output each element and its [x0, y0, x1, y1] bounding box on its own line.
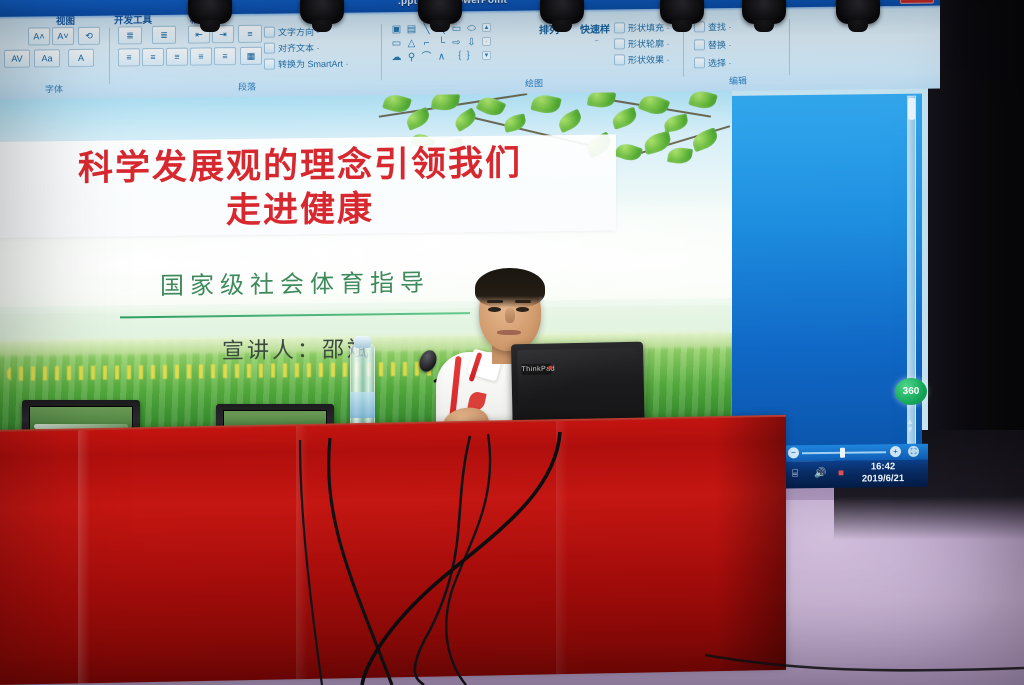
stage-light-3	[540, 0, 584, 24]
shape-1-1-icon[interactable]: △	[405, 38, 418, 49]
slide-title-line1: 科学发展观的理念引领我们	[0, 140, 608, 192]
slide-subtitle: 国家级社会体育指导	[100, 262, 490, 302]
ribbon-group-label-editing: 编辑	[686, 73, 790, 87]
powerpoint-window-chrome: .ppt - Mi... PowerPoint ✕ 视图开发工具格式 A˄A˅⟲…	[0, 0, 940, 100]
ribbon-group-font: A˄A˅⟲AVAaA字体	[0, 25, 110, 98]
align-text-menu[interactable]: 对齐文本 ·	[278, 41, 320, 55]
justify-button[interactable]: ≡	[190, 47, 212, 65]
shape-2-3-icon[interactable]: ∧	[435, 51, 448, 62]
ribbon-group-editing: 查找 ·替换 ·选择 ·编辑	[686, 16, 790, 89]
360-badge[interactable]: 360	[895, 378, 927, 405]
shape-0-4-icon[interactable]: ▭	[450, 23, 463, 34]
convert-to-smartart-icon	[264, 59, 275, 70]
shape-0-1-icon[interactable]: ▤	[405, 24, 418, 35]
shape-2-4-icon[interactable]: ｛	[450, 51, 463, 62]
shape-fill-menu[interactable]: 形状填充 ·	[628, 21, 670, 35]
shape-fill-icon	[614, 22, 625, 33]
select-menu[interactable]: 选择 ·	[708, 56, 732, 69]
line-spacing-button[interactable]: ≡	[238, 25, 262, 43]
bottle-label	[350, 392, 375, 418]
stage-light-0	[188, 0, 232, 24]
shape-effects-menu[interactable]: 形状效果 ·	[628, 53, 670, 67]
shape-1-4-icon[interactable]: ⇨	[450, 37, 463, 48]
stage-light-4	[660, 0, 704, 24]
shape-0-5-icon[interactable]: ⬭	[465, 23, 478, 34]
laptop-logo-dot	[548, 366, 552, 370]
slide-title: 科学发展观的理念引领我们 走进健康	[0, 140, 608, 236]
bottle-cap	[354, 336, 371, 348]
shape-1-5-icon[interactable]: ⇩	[465, 37, 478, 48]
mouth	[497, 330, 521, 335]
stage-light-6	[836, 0, 880, 24]
stage-light-2	[418, 0, 462, 24]
replace-icon	[694, 39, 705, 50]
select-icon	[694, 57, 705, 68]
shrink-font-button[interactable]: A˅	[52, 27, 74, 45]
stage-scene: 360 ▲▼ 科学发展观的理念引领我们 走进健康 国家级社会体育指导 宣讲人：邵…	[0, 0, 1024, 685]
change-case-button[interactable]: Aa	[34, 49, 60, 67]
distribute-button[interactable]: ≡	[214, 47, 236, 65]
powerpoint-workspace	[726, 94, 922, 448]
align-right-button[interactable]: ≡	[166, 48, 188, 66]
eye-left	[488, 307, 501, 312]
shape-2-0-icon[interactable]: ☁	[390, 52, 403, 63]
slide-divider	[120, 312, 470, 318]
stage-light-1	[300, 0, 344, 24]
ribbon-group-label-drawing: 绘图	[384, 75, 684, 92]
ribbon-group-drawing: 排列快速样式形状填充 ·形状轮廓 ·形状效果 ·▣▤╲╲▭⬭▲▭△⌐└⇨⇩·☁⚲…	[384, 18, 684, 94]
shape-gallery-spinner-2[interactable]: ▼	[482, 51, 491, 60]
character-spacing-button[interactable]: AV	[4, 50, 30, 68]
shape-outline-menu[interactable]: 形状轮廓 ·	[628, 37, 670, 51]
quick-styles-button[interactable]: 快速样式	[580, 22, 610, 40]
shape-outline-icon	[614, 38, 625, 49]
presenter-hair	[475, 268, 545, 308]
columns-button[interactable]: ▦	[240, 47, 262, 65]
scrollbar-thumb[interactable]	[908, 98, 915, 120]
eye-right	[516, 307, 529, 312]
shape-1-3-icon[interactable]: └	[435, 37, 448, 48]
ribbon-group-paragraph: ≣≣⇤⇥≡≡≡≡≡≡▦文字方向 ·对齐文本 ·转换为 SmartArt ·段落	[112, 21, 382, 96]
ribbon: A˄A˅⟲AVAaA字体≣≣⇤⇥≡≡≡≡≡≡▦文字方向 ·对齐文本 ·转换为 S…	[0, 14, 940, 100]
nose	[505, 308, 515, 323]
ribbon-group-label-font: 字体	[0, 82, 110, 96]
stage-light-5	[742, 0, 786, 24]
numbering-button[interactable]: ≣	[152, 26, 176, 44]
text-direction-icon	[264, 27, 275, 38]
shape-gallery-spinner-0[interactable]: ▲	[482, 23, 491, 32]
brow-left	[487, 300, 503, 303]
shape-2-5-icon[interactable]: ｝	[465, 51, 478, 62]
shape-1-2-icon[interactable]: ⌐	[420, 38, 433, 49]
laptop-brand-logo: ThinkPad	[521, 364, 551, 376]
shape-2-1-icon[interactable]: ⚲	[405, 52, 418, 63]
align-center-button[interactable]: ≡	[142, 48, 164, 66]
convert-to-smartart-menu[interactable]: 转换为 SmartArt ·	[278, 57, 349, 71]
grow-font-button[interactable]: A˄	[28, 27, 50, 45]
cables	[0, 430, 1024, 685]
bullets-button[interactable]: ≣	[118, 26, 142, 44]
shape-0-0-icon[interactable]: ▣	[390, 24, 403, 35]
font-color-button[interactable]: A	[68, 49, 94, 67]
ribbon-group-label-paragraph: 段落	[112, 78, 382, 94]
stage-curtain-right	[928, 0, 1024, 500]
brow-right	[515, 300, 531, 303]
clear-formatting-button[interactable]: ⟲	[78, 27, 100, 45]
shape-2-2-icon[interactable]: ⌒	[420, 52, 433, 63]
slide-title-line2: 走进健康	[0, 184, 608, 236]
align-left-button[interactable]: ≡	[118, 48, 140, 66]
find-menu[interactable]: 查找 ·	[708, 20, 732, 33]
replace-menu[interactable]: 替换 ·	[708, 38, 732, 51]
shape-1-0-icon[interactable]: ▭	[390, 38, 403, 49]
shape-gallery-spinner-1[interactable]: ·	[482, 37, 491, 46]
align-text-icon	[264, 43, 275, 54]
shape-effects-icon	[614, 54, 625, 65]
